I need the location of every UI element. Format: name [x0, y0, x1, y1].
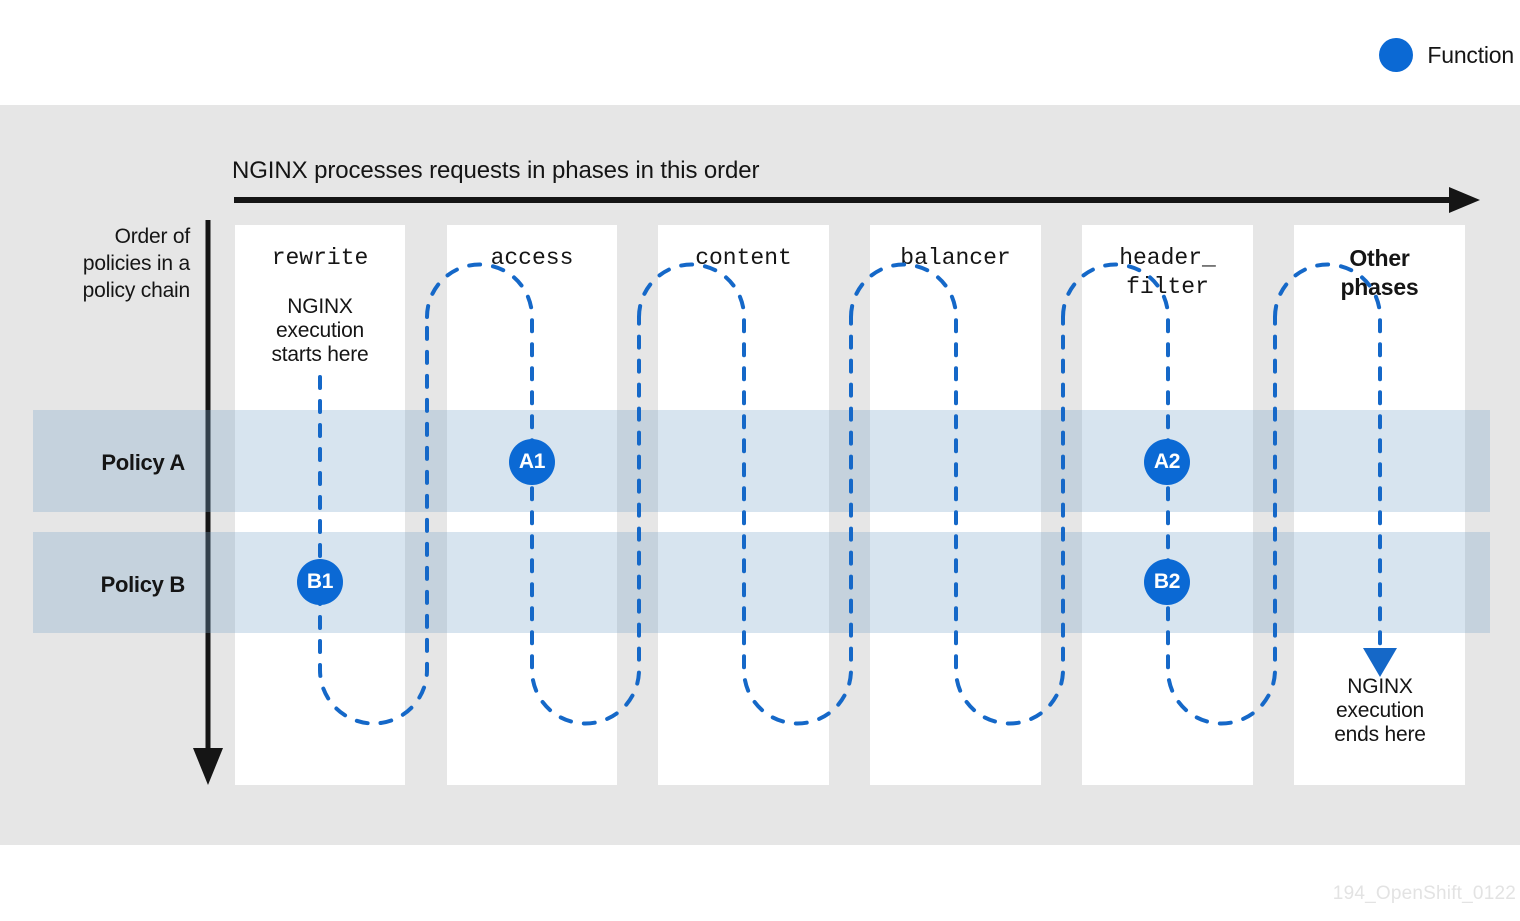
- execution-start-note-line1: NGINX: [240, 295, 400, 319]
- watermark: 194_OpenShift_0122: [1333, 883, 1516, 905]
- phase-title-access: access: [447, 244, 617, 273]
- phase-title-balancer: balancer: [870, 244, 1041, 273]
- execution-end-note-line1: NGINX: [1300, 675, 1460, 699]
- order-axis-label-line3: policy chain: [30, 277, 190, 304]
- order-axis-label: Order of policies in a policy chain: [30, 223, 190, 304]
- legend-item-function: Function: [1379, 38, 1514, 72]
- execution-end-note-line3: ends here: [1300, 723, 1460, 747]
- phase-title-rewrite: rewrite: [235, 244, 405, 273]
- filled-circle-icon: [1379, 38, 1413, 72]
- policy-row-a-label: Policy A: [30, 450, 185, 476]
- phase-title-header-filter-line2: filter: [1082, 273, 1253, 302]
- order-axis-label-line1: Order of: [30, 223, 190, 250]
- order-axis-label-line2: policies in a: [30, 250, 190, 277]
- phase-title-other-phases-line2: phases: [1294, 273, 1465, 302]
- function-node-a2[interactable]: A2: [1144, 439, 1190, 485]
- diagram-canvas: NGINX processes requests in phases in th…: [0, 105, 1520, 845]
- right-arrow-icon: [234, 187, 1480, 213]
- execution-end-note: NGINX execution ends here: [1300, 675, 1460, 747]
- execution-start-note: NGINX execution starts here: [240, 295, 400, 367]
- flow-caption: NGINX processes requests in phases in th…: [232, 157, 759, 185]
- phase-title-other-phases: Other phases: [1294, 244, 1465, 302]
- function-node-b2[interactable]: B2: [1144, 559, 1190, 605]
- function-node-b1[interactable]: B1: [297, 559, 343, 605]
- legend-label: Function: [1427, 42, 1514, 69]
- phase-title-content: content: [658, 244, 829, 273]
- policy-row-b-band: [33, 532, 1490, 633]
- phase-title-other-phases-line1: Other: [1294, 244, 1465, 273]
- execution-start-note-line3: starts here: [240, 343, 400, 367]
- policy-row-a-band: [33, 410, 1490, 512]
- execution-start-note-line2: execution: [240, 319, 400, 343]
- function-node-a1[interactable]: A1: [509, 439, 555, 485]
- legend-bar: Function: [0, 0, 1520, 105]
- policy-row-b-label: Policy B: [30, 572, 185, 598]
- phase-title-header-filter: header_ filter: [1082, 244, 1253, 302]
- execution-end-note-line2: execution: [1300, 699, 1460, 723]
- phase-title-header-filter-line1: header_: [1082, 244, 1253, 273]
